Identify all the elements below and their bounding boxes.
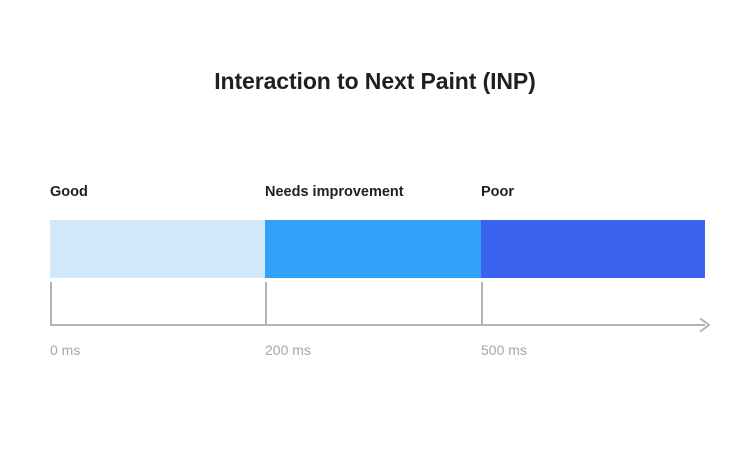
tick-label-500ms: 500 ms: [481, 342, 527, 358]
band-label-row: Good Needs improvement Poor: [50, 184, 705, 206]
axis-tick-label-row: 0 ms 200 ms 500 ms: [50, 342, 705, 362]
axis-area: [50, 282, 720, 328]
arrow-right-icon: [698, 317, 714, 333]
chart-title: Interaction to Next Paint (INP): [0, 68, 750, 95]
inp-threshold-infographic: Interaction to Next Paint (INP) Good Nee…: [0, 0, 750, 469]
threshold-bar: [50, 220, 705, 278]
band-label-poor: Poor: [481, 184, 514, 200]
tick-label-0ms: 0 ms: [50, 342, 80, 358]
band-label-needs-improvement: Needs improvement: [265, 184, 404, 200]
tick-label-200ms: 200 ms: [265, 342, 311, 358]
axis-tick-0ms: [50, 282, 52, 326]
axis-tick-500ms: [481, 282, 483, 326]
bar-segment-good: [50, 220, 265, 278]
axis-baseline: [50, 324, 705, 326]
axis-tick-200ms: [265, 282, 267, 326]
bar-segment-poor: [481, 220, 705, 278]
bar-segment-needs-improvement: [265, 220, 481, 278]
band-label-good: Good: [50, 184, 88, 200]
